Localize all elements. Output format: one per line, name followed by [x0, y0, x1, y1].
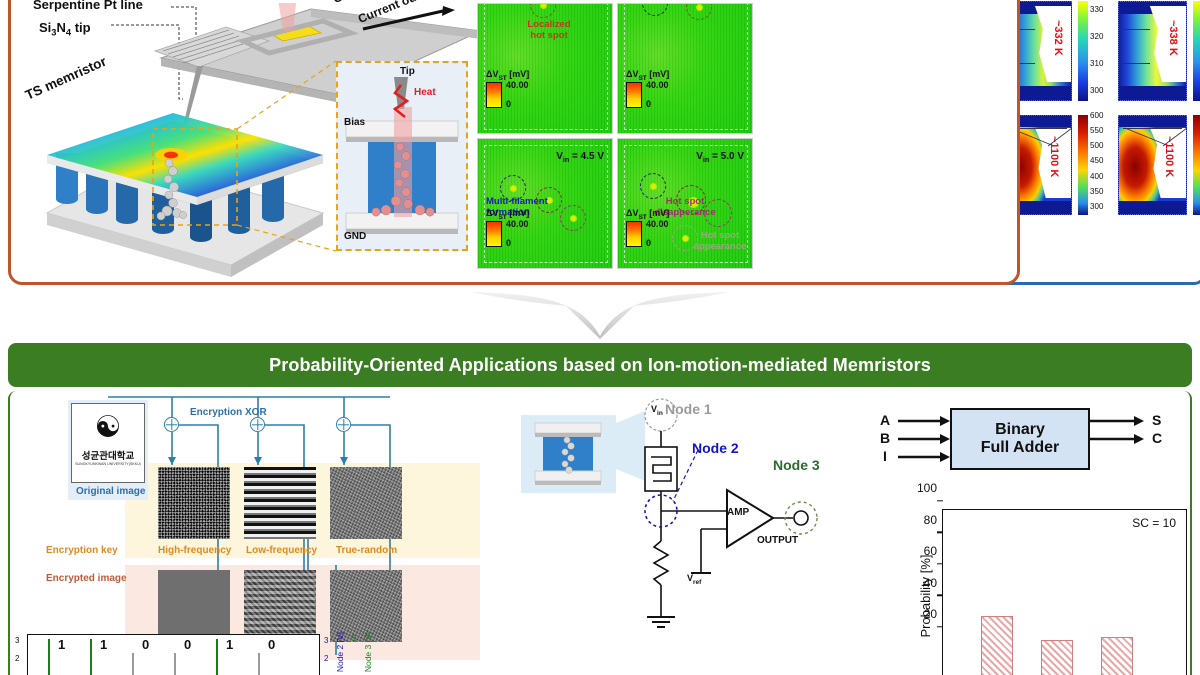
chart-ytick-100: 100 [917, 481, 937, 495]
node-2-label: Node 2 [692, 440, 739, 456]
inset-label-bias: Bias [344, 117, 365, 128]
applications-panel: Encryption XOR ☯ 성균관대학교 SUNGKYUNKWAN UNI… [8, 391, 1192, 675]
device-temp-1100k-a: ~1100 K [1048, 136, 1060, 177]
encryption-key-caption: Encryption key [46, 545, 118, 556]
scale-min-4: 0 [646, 238, 651, 248]
cb5-tick-4: 400 [1090, 172, 1103, 181]
comparator-circuit-diagram: Vin Node 1 Node 2 Node 3 AMP OUTPUT Vref [505, 395, 865, 675]
colorbar-2-ticks: 330 320 310 300 [1090, 0, 1103, 97]
cb5-tick-5: 350 [1090, 187, 1103, 196]
wave-left-tick-3: 3 [15, 636, 19, 645]
node-3-label: Node 3 [773, 457, 820, 473]
key-pattern-true-random [330, 467, 402, 539]
thermal-annotation-4b: Hot spot appearance [692, 231, 748, 253]
skku-logo-english: SUNGKYUNKWAN UNIVERSITY(SKKU) [75, 462, 141, 466]
cb5-tick-2: 500 [1090, 141, 1103, 150]
encrypted-image-caption: Encrypted image [46, 573, 127, 584]
thermal-scalebar-1: ΔVST [mV] 40.00 0 [486, 82, 502, 108]
chart-ytick-20: 20 [924, 607, 937, 621]
xor-gate-1 [164, 417, 179, 432]
adder-block: Binary Full Adder [950, 408, 1090, 470]
experiment-panel: Serpentine Pt line Si3N4 tip TS memristo… [8, 0, 1020, 285]
flow-arrow [470, 292, 730, 340]
colorbar-3: 330 320 310 300 [1193, 1, 1200, 101]
chart-bar-1 [981, 616, 1013, 675]
cb5-tick-6: 300 [1090, 202, 1103, 211]
adder-input-b: B [880, 430, 890, 446]
scale-max-4: 40.00 [646, 219, 669, 229]
output-label: OUTPUT [757, 535, 798, 546]
chart-plot-area: SC = 10 20 40 60 80 100 [942, 509, 1187, 675]
wave-bit-1: 1 [58, 637, 65, 652]
thermal-map-grid: Localized hot spot ΔVST [mV] 40.00 0 [477, 3, 753, 269]
vref-label: Vref [687, 573, 701, 586]
key-caption-hf: High-frequency [158, 545, 231, 556]
inset-label-heat: Heat [414, 87, 436, 98]
device-schematic: Serpentine Pt line Si3N4 tip TS memristo… [11, 3, 481, 285]
device-sim-1100k-b: ~1100 K [1118, 115, 1187, 215]
chart-y-axis-label: Probability [%] [918, 554, 933, 637]
adder-input-i: I [883, 448, 887, 464]
output-waveform: Node 1 [V] 3 2 1 1 0 0 1 0 3 2 Node 2 [V… [8, 630, 375, 675]
cb2-tick-3: 300 [1090, 86, 1103, 95]
cb5-tick-0: 600 [1090, 111, 1103, 120]
original-image-caption: Original image [76, 486, 145, 497]
key-pattern-high-frequency [158, 467, 230, 539]
colorbar-5: 600 550 500 450 400 350 300 [1078, 115, 1088, 215]
xor-gate-2 [250, 417, 265, 432]
scale-max-1: 40.00 [506, 80, 529, 90]
adder-output-c: C [1152, 430, 1162, 446]
wave-plot-area: 1 1 0 0 1 0 [27, 634, 320, 675]
probability-bar-chart: Probability [%] SC = 10 20 40 60 80 100 [880, 501, 1190, 675]
node-1-label: Node 1 [665, 401, 712, 417]
thermal-scalebar-4: ΔVST [mV] 40.00 0 [626, 221, 642, 247]
wave-left-tick-2: 2 [15, 654, 19, 663]
wave-axis-mid-label: Node 2 [V] [335, 632, 345, 672]
cb2-tick-0: 330 [1090, 5, 1103, 14]
wave-bit-2: 1 [100, 637, 107, 652]
vin-label-45v: Vin = 4.5 V [556, 151, 604, 164]
device-sim-338k: ~338 K [1118, 1, 1187, 101]
colorbar-6: 600 550 500 450 400 350 300 [1193, 115, 1200, 215]
chart-bar-3 [1101, 637, 1133, 675]
thermal-annotation-1: Localized hot spot [514, 20, 584, 42]
original-image: ☯ 성균관대학교 SUNGKYUNKWAN UNIVERSITY(SKKU) [71, 403, 145, 483]
cb2-tick-1: 320 [1090, 32, 1103, 41]
device-temp-338k: ~338 K [1167, 20, 1179, 56]
wave-mid-tick-2: 2 [324, 654, 328, 663]
scale-min-1: 0 [506, 99, 511, 109]
scale-min-2: 0 [646, 99, 651, 109]
vin-label-50v: Vin = 5.0 V [696, 151, 744, 164]
thermal-cell-4: Vin = 5.0 V Hot spot disapperance Hot sp… [617, 138, 753, 269]
chart-bar-2 [1041, 640, 1073, 675]
encryption-xor-label: Encryption XOR [190, 407, 267, 418]
section-banner: Probability-Oriented Applications based … [8, 343, 1192, 387]
graphical-abstract: ~304 K 1 nm ~301 K 304 302 300 [0, 0, 1200, 675]
chart-ytick-80: 80 [924, 513, 937, 527]
inset-label-tip: Tip [400, 66, 415, 77]
scale-max-3: 40.00 [506, 219, 529, 229]
colorbar-2: 330 320 310 300 [1078, 1, 1088, 101]
thermal-scalebar-2: ΔVST [mV] 40.00 0 [626, 82, 642, 108]
adder-output-s: S [1152, 412, 1161, 428]
wave-mid-tick-3: 3 [324, 636, 328, 645]
thermal-cell-3: Vin = 4.5 V Multi-filament formation ΔVS… [477, 138, 613, 269]
wave-bit-6: 0 [268, 637, 275, 652]
vin-source-label: Vin [651, 404, 663, 417]
chart-ytick-60: 60 [924, 544, 937, 558]
colorbar-5-ticks: 600 550 500 450 400 350 300 [1090, 111, 1103, 211]
wave-bit-5: 1 [226, 637, 233, 652]
cb5-tick-1: 550 [1090, 126, 1103, 135]
key-caption-lf: Low-frequency [246, 545, 317, 556]
device-temp-332k: ~332 K [1052, 20, 1064, 56]
chart-ytick-40: 40 [924, 576, 937, 590]
amplifier-label: AMP [727, 507, 749, 518]
adder-input-a: A [880, 412, 890, 428]
xor-gate-3 [336, 417, 351, 432]
key-caption-tr: True-random [336, 545, 397, 556]
label-serpentine-pt-line: Serpentine Pt line [33, 0, 143, 12]
adder-title-1: Binary [995, 421, 1045, 439]
chart-annotation-sc: SC = 10 [1132, 516, 1176, 530]
cb5-tick-3: 450 [1090, 156, 1103, 165]
skku-logo-korean: 성균관대학교 [82, 448, 134, 462]
banner-title: Probability-Oriented Applications based … [269, 355, 931, 376]
wave-bit-4: 0 [184, 637, 191, 652]
adder-title-2: Full Adder [981, 439, 1060, 457]
key-pattern-low-frequency [244, 467, 316, 539]
thermal-scalebar-3: ΔVST [mV] 40.00 0 [486, 221, 502, 247]
cb2-tick-2: 310 [1090, 59, 1103, 68]
filament-inset: Tip Heat Bias GND [336, 61, 468, 251]
scale-max-2: 40.00 [646, 80, 669, 90]
skku-logo-icon: ☯ [95, 410, 122, 445]
inset-label-gnd: GND [344, 231, 366, 242]
label-si3n4-tip: Si3N4 tip [39, 20, 91, 38]
device-temp-1100k-b: ~1100 K [1163, 136, 1175, 177]
scale-min-3: 0 [506, 238, 511, 248]
wave-axis-right-label: Node 3 [V] [363, 632, 373, 672]
wave-right-tick-5: 5 [352, 634, 356, 643]
original-image-box: ☯ 성균관대학교 SUNGKYUNKWAN UNIVERSITY(SKKU) O… [68, 400, 148, 500]
thermal-cell-1: Localized hot spot ΔVST [mV] 40.00 0 [477, 3, 613, 134]
wave-bit-3: 0 [142, 637, 149, 652]
thermal-cell-2: ΔVST [mV] 40.00 0 [617, 3, 753, 134]
